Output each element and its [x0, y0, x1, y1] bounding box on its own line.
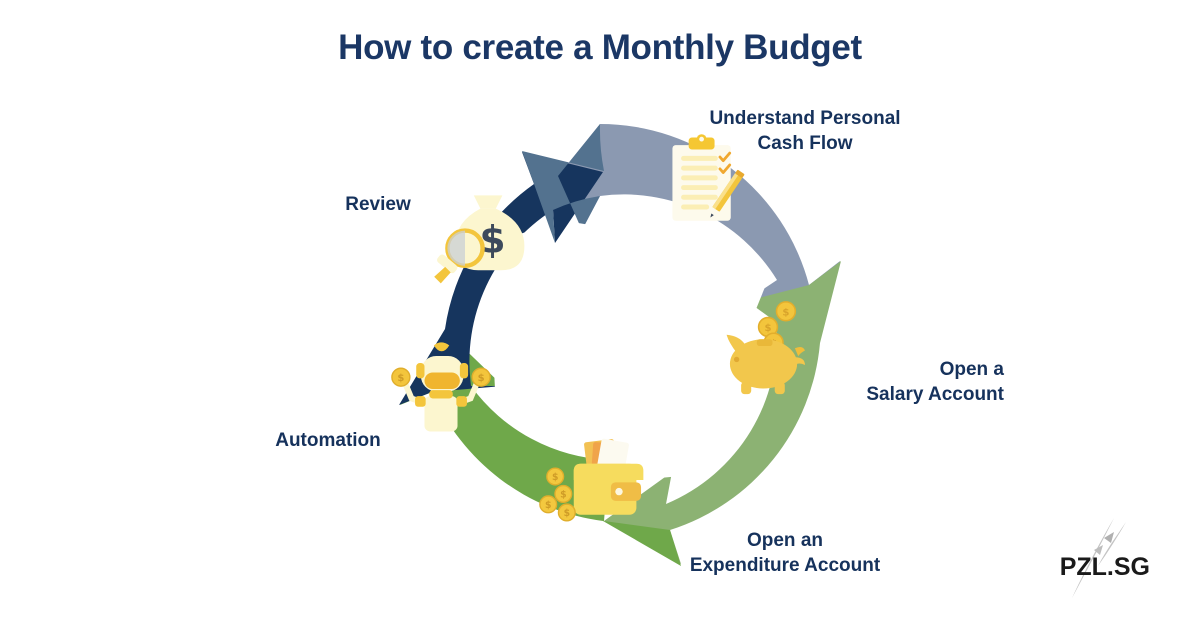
cycle-diagram-svg: $ $ $ [320, 80, 880, 600]
step-label-expenditure-account: Open an Expenditure Account [660, 528, 910, 578]
page-title: How to create a Monthly Budget [0, 28, 1200, 68]
step-label-review: Review [318, 192, 438, 217]
step-label-understand-cash-flow: Understand Personal Cash Flow [690, 106, 920, 156]
brand-name: PZL.SG [1060, 553, 1150, 582]
step-label-automation: Automation [258, 428, 398, 453]
brand-logo: PZL.SG [1042, 516, 1172, 602]
cycle-diagram: $ $ $ [320, 80, 880, 600]
step-label-salary-account: Open a Salary Account [812, 357, 1004, 407]
cycle-ring-final [320, 80, 880, 600]
